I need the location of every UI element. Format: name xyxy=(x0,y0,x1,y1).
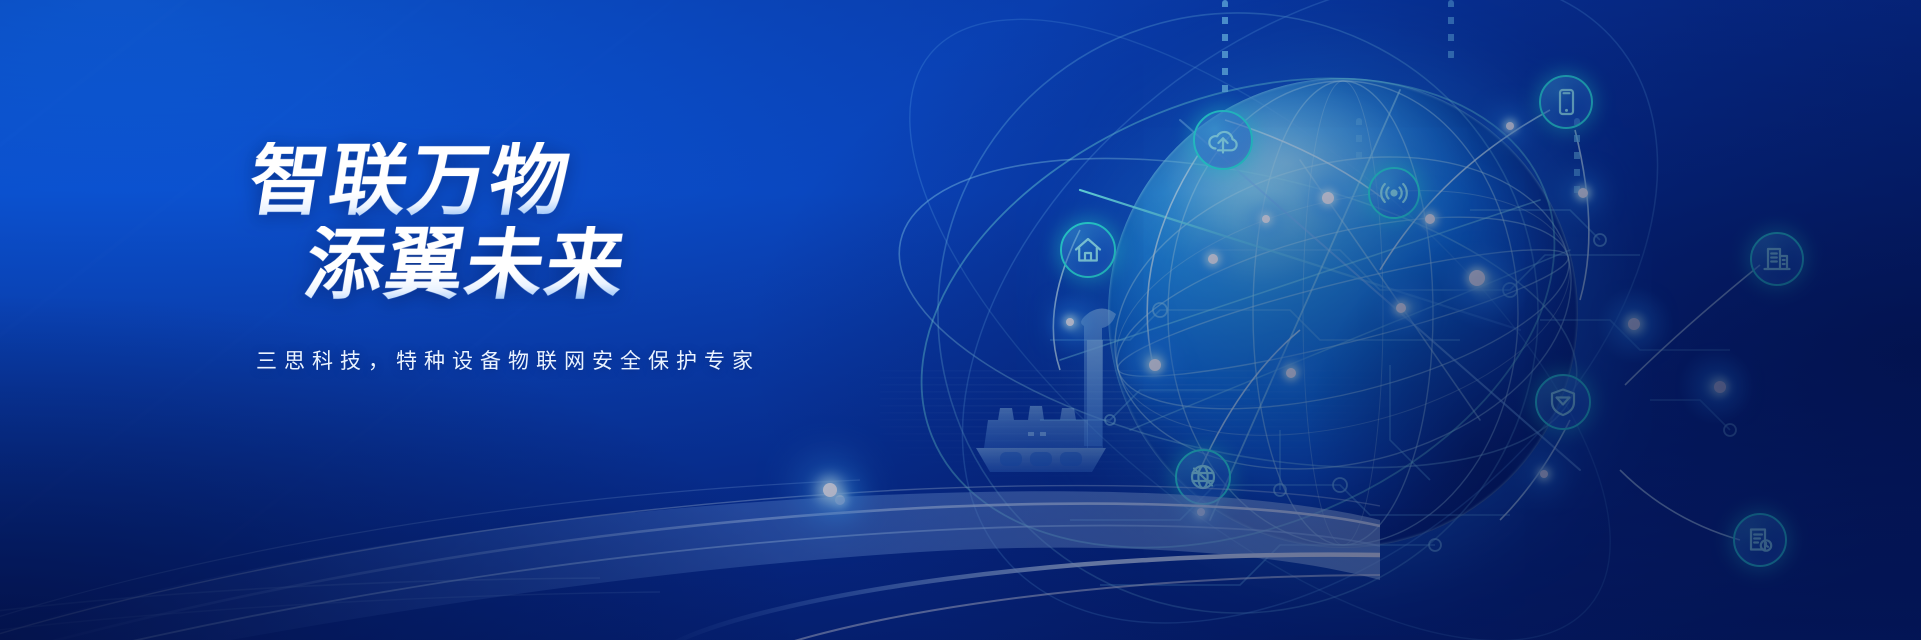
signal-icon[interactable] xyxy=(1368,167,1420,219)
glow-dot xyxy=(1506,122,1514,130)
smartphone-icon[interactable] xyxy=(1539,75,1593,129)
glow-dot xyxy=(1208,254,1218,264)
glow-dot xyxy=(1322,192,1334,204)
glow-dot xyxy=(1578,188,1588,198)
trail-flare xyxy=(823,483,837,497)
glow-dot xyxy=(1149,359,1161,371)
glow-dot xyxy=(1262,215,1270,223)
document-report-icon[interactable] xyxy=(1733,513,1787,567)
subtitle: 三思科技，特种设备物联网安全保护专家 xyxy=(256,345,970,375)
building-icon[interactable] xyxy=(1750,232,1804,286)
home-icon[interactable] xyxy=(1060,222,1116,278)
globe-network-icon[interactable] xyxy=(1175,449,1231,505)
glow-dot xyxy=(1540,470,1548,478)
headline: 智联万物 添翼未来 xyxy=(250,142,970,305)
glow-dot xyxy=(1286,368,1296,378)
bead-strand xyxy=(1448,0,1454,60)
glow-dot xyxy=(1469,270,1485,286)
glow-blob xyxy=(1044,290,1114,360)
headline-line-2: 添翼未来 xyxy=(300,226,977,306)
hero-banner: 智联万物 添翼未来 三思科技，特种设备物联网安全保护专家 xyxy=(0,0,1921,640)
cloud-upload-icon[interactable] xyxy=(1193,110,1253,170)
headline-block: 智联万物 添翼未来 三思科技，特种设备物联网安全保护专家 xyxy=(250,142,970,375)
glow-dot xyxy=(1425,214,1435,224)
headline-line-1: 智联万物 xyxy=(244,142,977,222)
glow-dot xyxy=(1628,318,1640,330)
shield-icon[interactable] xyxy=(1535,374,1591,430)
glow-dot xyxy=(1066,318,1074,326)
glow-dot xyxy=(1396,303,1406,313)
glow-dot xyxy=(1714,381,1726,393)
glow-dot xyxy=(835,495,845,505)
glow-dot xyxy=(1197,508,1205,516)
